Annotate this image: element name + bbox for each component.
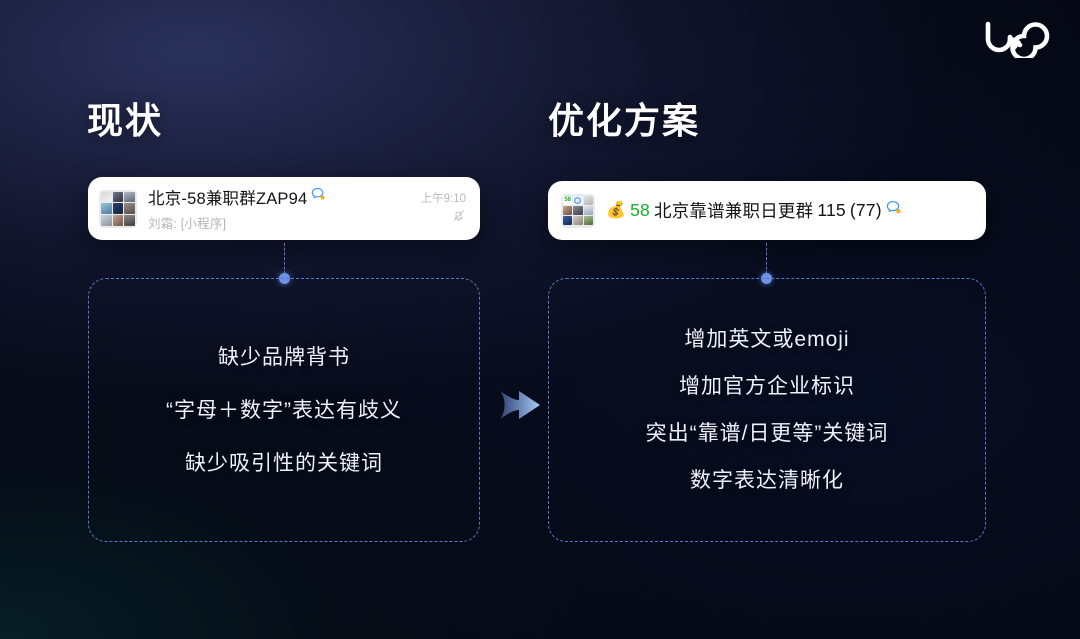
- list-item: 缺少吸引性的关键词: [185, 453, 383, 474]
- page-title-left: 现状: [87, 103, 163, 139]
- list-item: 增加英文或emoji: [684, 329, 849, 350]
- chat-card-meta-left: 上午9:10: [421, 190, 466, 228]
- issues-list: 缺少品牌背书 “字母＋数字”表达有歧义 缺少吸引性的关键词: [89, 279, 479, 541]
- wechat-chat-card-left[interactable]: 北京-58兼职群ZAP94 刘霜: [小程序] 上午9:10: [88, 177, 480, 240]
- brand-number-58: 58: [630, 200, 650, 221]
- list-item: 增加官方企业标识: [679, 376, 855, 397]
- group-avatar-grid-icon: 58: [561, 194, 595, 228]
- money-bag-emoji: 💰: [606, 203, 626, 219]
- chat-title-left: 北京-58兼职群ZAP94: [148, 185, 307, 209]
- mute-bell-icon: [451, 208, 466, 228]
- chat-title-row-left: 北京-58兼职群ZAP94: [148, 185, 421, 209]
- wechat-bubble-icon: [311, 187, 326, 207]
- list-item: 缺少品牌背书: [218, 347, 350, 368]
- issues-panel-left: 缺少品牌背书 “字母＋数字”表达有歧义 缺少吸引性的关键词: [88, 278, 480, 542]
- chat-subtitle-left: 刘霜: [小程序]: [148, 213, 421, 232]
- member-count: (77): [850, 200, 882, 221]
- wechat-bubble-icon: [886, 200, 902, 221]
- chat-title-right: 北京靠谱兼职日更群: [654, 198, 813, 223]
- group-number: 115: [817, 200, 846, 221]
- solutions-panel-right: 增加英文或emoji 增加官方企业标识 突出“靠谱/日更等”关键词 数字表达清晰…: [548, 278, 986, 542]
- uxo-logo-icon: [980, 14, 1058, 58]
- slide-root: 现状 北京-58兼职群ZAP94 刘霜: [小程: [0, 0, 1080, 639]
- page-title-right: 优化方案: [548, 103, 700, 139]
- list-item: “字母＋数字”表达有歧义: [166, 400, 402, 421]
- chat-card-body-left: 北京-58兼职群ZAP94 刘霜: [小程序]: [148, 185, 421, 232]
- chat-title-row-right: 💰 58 北京靠谱兼职日更群 115 (77): [606, 198, 972, 223]
- list-item: 突出“靠谱/日更等”关键词: [646, 423, 889, 444]
- group-avatar-grid-icon: [99, 190, 137, 228]
- chat-timestamp-left: 上午9:10: [421, 190, 466, 206]
- wechat-chat-card-right[interactable]: 58 💰 58 北京靠谱兼职日更群 115 (77): [548, 181, 986, 240]
- list-item: 数字表达清晰化: [690, 470, 844, 491]
- solutions-list: 增加英文或emoji 增加官方企业标识 突出“靠谱/日更等”关键词 数字表达清晰…: [549, 279, 985, 541]
- chat-card-body-right: 💰 58 北京靠谱兼职日更群 115 (77): [606, 198, 972, 223]
- right-arrow-icon: [497, 383, 543, 427]
